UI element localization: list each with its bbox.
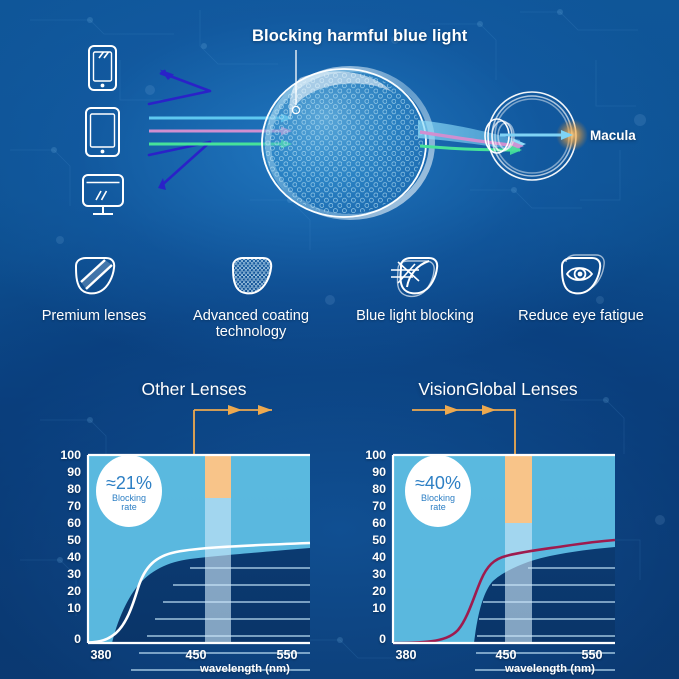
smartphone-icon	[89, 46, 116, 90]
right-ytick-70: 70	[360, 499, 386, 513]
left-badge-sub2: rate	[89, 503, 169, 512]
feature-label: Blue light blocking	[330, 308, 500, 324]
right-xtick-380: 380	[384, 648, 428, 662]
features-row: Premium lenses Advanced coating technolo…	[0, 250, 679, 360]
feature-blue-light-blocking: Blue light blocking	[330, 250, 500, 324]
tablet-icon	[86, 108, 119, 156]
blue-light-lens	[262, 69, 432, 217]
right-xaxis-label: wavelength (nm)	[505, 663, 595, 675]
left-ytick-90: 90	[55, 465, 81, 479]
hero-illustration: Blocking harmful blue light	[0, 0, 679, 250]
feature-label: Reduce eye fatigue	[496, 308, 666, 324]
right-ytick-80: 80	[360, 482, 386, 496]
monitor-icon	[83, 175, 123, 214]
left-xtick-380: 380	[79, 648, 123, 662]
left-ytick-10: 10	[55, 601, 81, 615]
left-ytick-60: 60	[55, 516, 81, 530]
right-ytick-40: 40	[360, 550, 386, 564]
right-ytick-60: 60	[360, 516, 386, 530]
left-ytick-50: 50	[55, 533, 81, 547]
right-ytick-50: 50	[360, 533, 386, 547]
blue-light-blocking-lens-icon	[330, 250, 500, 302]
right-badge-sub2: rate	[398, 503, 478, 512]
left-xaxis-label: wavelength (nm)	[200, 663, 290, 675]
feature-advanced-coating: Advanced coating technology	[166, 250, 336, 341]
hero-svg	[0, 0, 679, 250]
left-orange-band	[205, 455, 231, 498]
feature-label: Advanced coating technology	[166, 308, 336, 341]
right-badge-value: ≈40%	[398, 473, 478, 494]
right-ytick-100: 100	[360, 448, 386, 462]
charts-svg	[0, 360, 679, 679]
feature-label: Premium lenses	[9, 308, 179, 324]
premium-lens-icon	[9, 250, 179, 302]
left-xtick-450: 450	[174, 648, 218, 662]
right-ytick-0: 0	[360, 632, 386, 646]
right-orange-band	[505, 455, 532, 523]
left-badge-value: ≈21%	[89, 473, 169, 494]
right-ytick-90: 90	[360, 465, 386, 479]
left-ytick-80: 80	[55, 482, 81, 496]
right-xtick-450: 450	[484, 648, 528, 662]
left-ytick-20: 20	[55, 584, 81, 598]
coating-mesh-lens-icon	[166, 250, 336, 302]
macula-label: Macula	[590, 128, 636, 143]
feature-reduce-eye-fatigue: Reduce eye fatigue	[496, 250, 666, 324]
left-ytick-30: 30	[55, 567, 81, 581]
left-ytick-70: 70	[55, 499, 81, 513]
right-ytick-10: 10	[360, 601, 386, 615]
right-xtick-550: 550	[570, 648, 614, 662]
left-ytick-100: 100	[55, 448, 81, 462]
left-ytick-40: 40	[55, 550, 81, 564]
left-xtick-550: 550	[265, 648, 309, 662]
infographic-canvas: Blocking harmful blue light	[0, 0, 679, 679]
charts-section: Other Lenses VisionGlobal Lenses Higher …	[0, 360, 679, 679]
left-ytick-0: 0	[55, 632, 81, 646]
right-ytick-20: 20	[360, 584, 386, 598]
right-ytick-30: 30	[360, 567, 386, 581]
eye-fatigue-lens-icon	[496, 250, 666, 302]
feature-premium-lenses: Premium lenses	[9, 250, 179, 324]
